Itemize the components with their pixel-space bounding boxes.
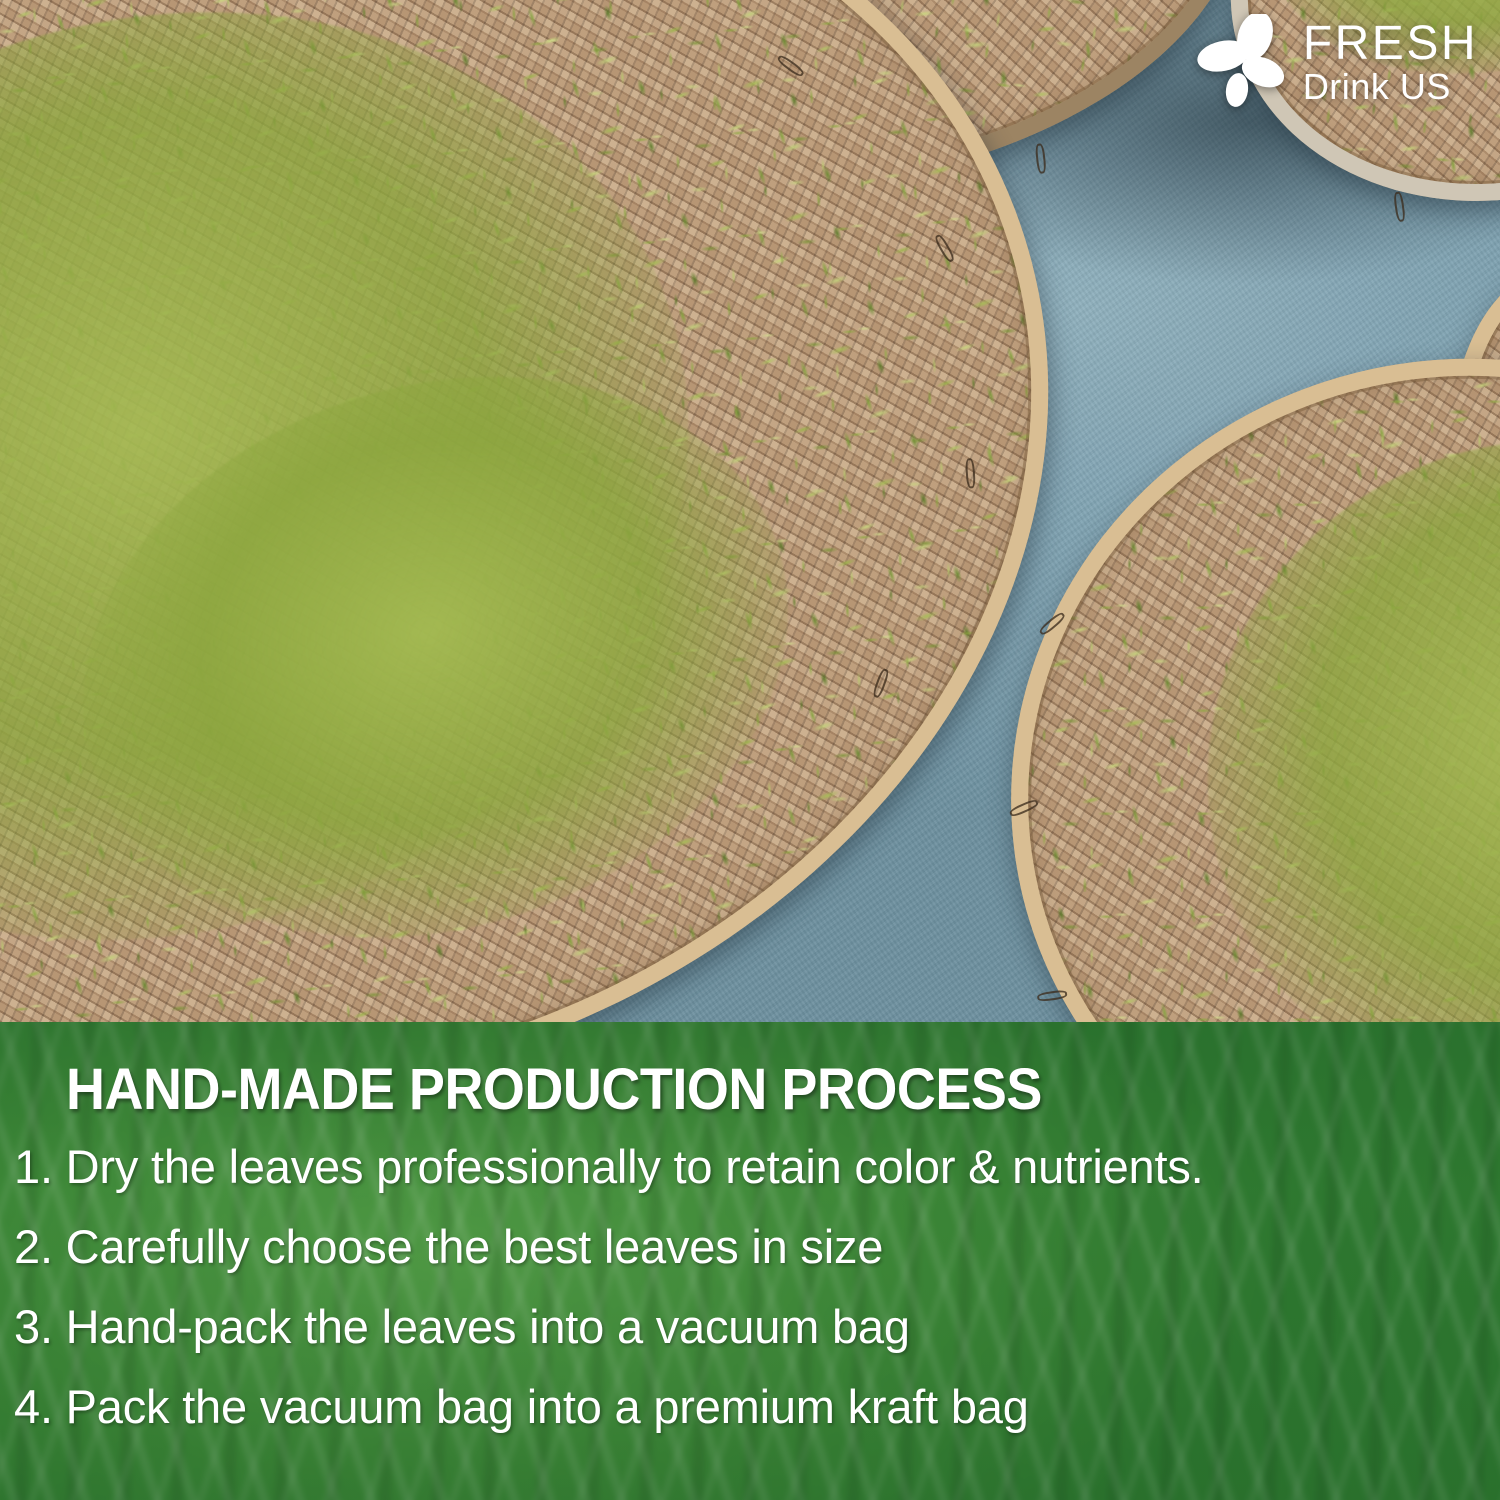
banner-content: HAND-MADE PRODUCTION PROCESS 1. Dry the …: [0, 1022, 1500, 1500]
brand-logo-text: FRESH Drink US: [1303, 20, 1478, 104]
process-step-list: 1. Dry the leaves professionally to reta…: [14, 1139, 1500, 1434]
process-step: 3. Hand-pack the leaves into a vacuum ba…: [14, 1299, 1500, 1354]
product-photo: FRESH Drink US: [0, 0, 1500, 1022]
product-infographic: FRESH Drink US HAND-MADE PRODUCTION PROC…: [0, 0, 1500, 1500]
brand-name-secondary: Drink US: [1303, 69, 1478, 104]
process-step: 4. Pack the vacuum bag into a premium kr…: [14, 1379, 1500, 1434]
leaf-cluster-icon: [1197, 14, 1289, 110]
process-step: 1. Dry the leaves professionally to reta…: [14, 1139, 1500, 1194]
banner-heading: HAND-MADE PRODUCTION PROCESS: [66, 1056, 1400, 1123]
process-step: 2. Carefully choose the best leaves in s…: [14, 1219, 1500, 1274]
brand-logo: FRESH Drink US: [1197, 14, 1478, 110]
brand-name-primary: FRESH: [1303, 20, 1478, 67]
process-banner: HAND-MADE PRODUCTION PROCESS 1. Dry the …: [0, 1022, 1500, 1500]
